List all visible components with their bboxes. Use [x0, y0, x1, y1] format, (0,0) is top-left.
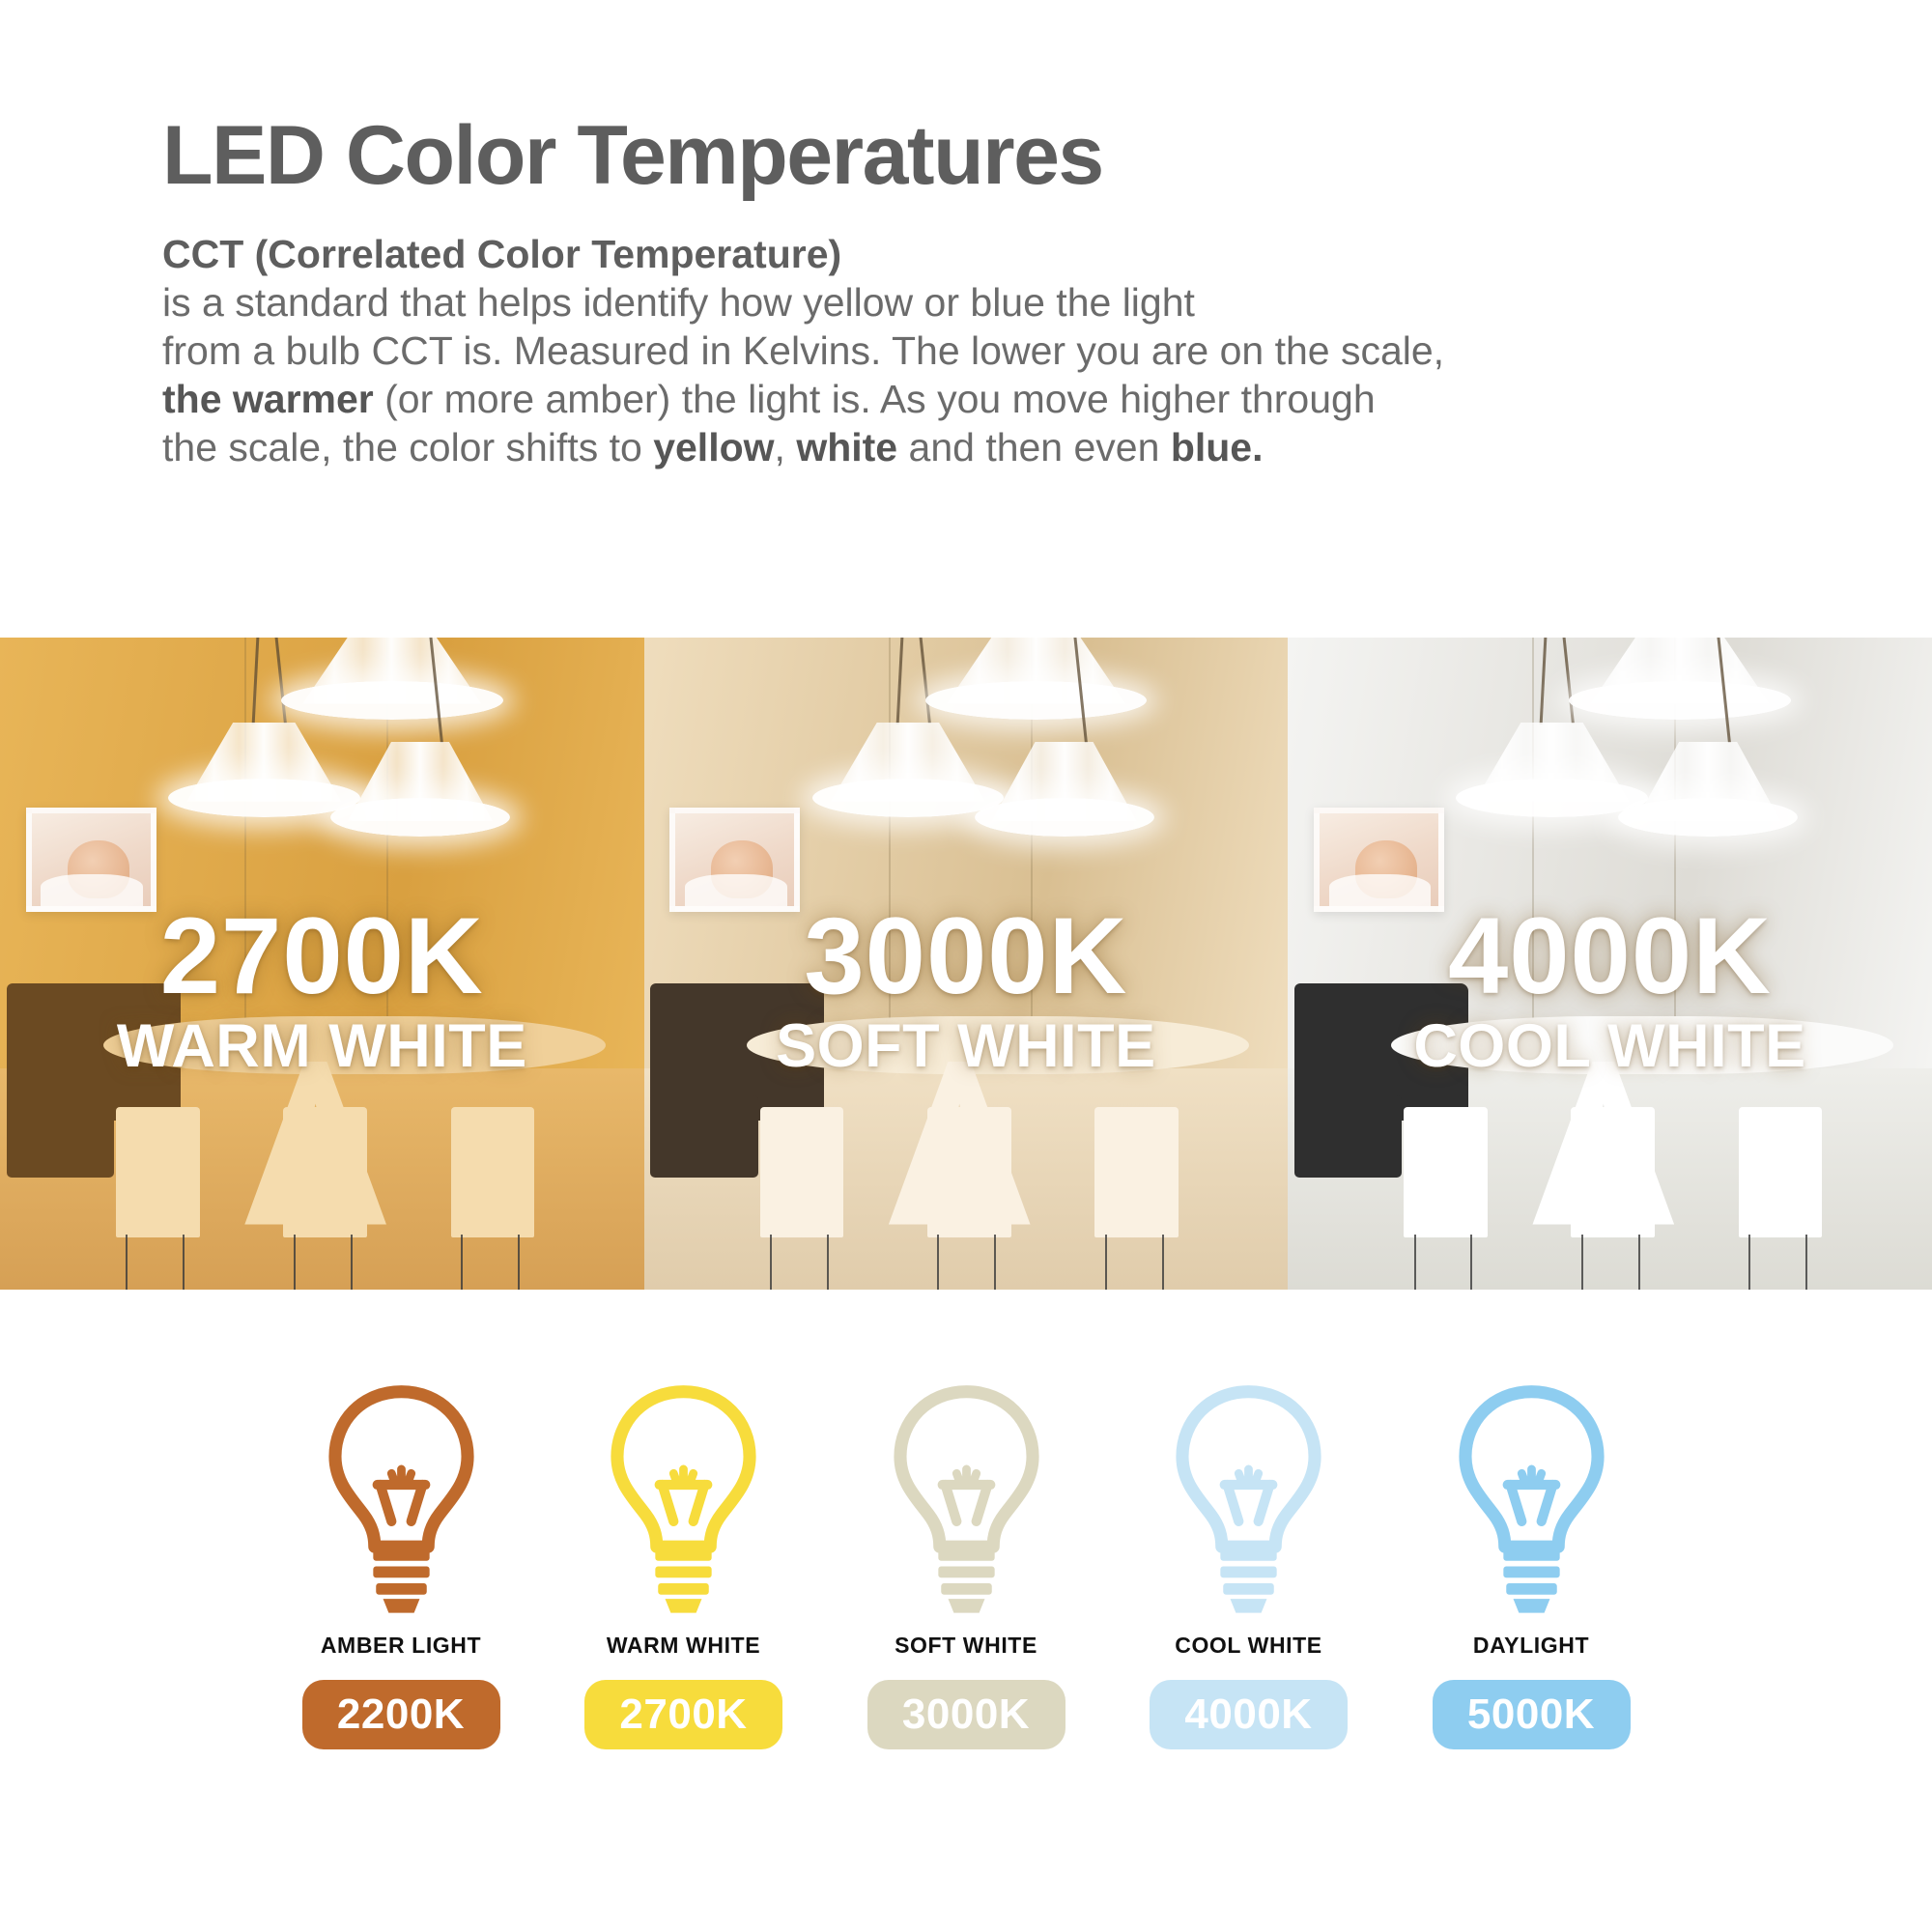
room-comparison-band: 2700K WARM WHITE	[0, 638, 1932, 1290]
bulb-label: DAYLIGHT	[1473, 1633, 1589, 1659]
lamp-glow	[975, 798, 1154, 837]
bulb-item-2700k[interactable]: WARM WHITE 2700K	[563, 1379, 805, 1749]
description-line-4-d: and then even	[897, 425, 1171, 469]
chair-leg	[183, 1235, 185, 1290]
bulb-item-4000k[interactable]: COOL WHITE 4000K	[1128, 1379, 1370, 1749]
chair	[1404, 1107, 1488, 1237]
pendant-lamp	[947, 638, 1125, 704]
chair-leg	[1581, 1235, 1583, 1290]
pendant-lamp	[186, 723, 341, 802]
lamp-glow	[812, 779, 1004, 817]
framed-artwork	[26, 808, 156, 912]
chair-leg	[1470, 1235, 1472, 1290]
dining-table-top	[103, 1016, 606, 1075]
room-panel-2700k: 2700K WARM WHITE	[0, 638, 644, 1290]
room-panel-4000k: 4000K COOL WHITE	[1288, 638, 1932, 1290]
description-line-4-a: the scale, the color shifts to	[162, 425, 653, 469]
chair-leg	[1748, 1235, 1750, 1290]
chair	[1571, 1107, 1655, 1237]
infographic-page: LED Color Temperatures CCT (Correlated C…	[0, 0, 1932, 1932]
description-line-3-rest: (or more amber) the light is. As you mov…	[374, 377, 1376, 421]
description-line-4: the scale, the color shifts to yellow, w…	[162, 423, 1804, 471]
chair	[760, 1107, 844, 1237]
chair	[116, 1107, 200, 1237]
pendant-lamp	[1590, 638, 1769, 704]
chair-leg	[770, 1235, 772, 1290]
chair-leg	[937, 1235, 939, 1290]
bulb-label: COOL WHITE	[1175, 1633, 1322, 1659]
white-emphasis: white	[796, 425, 897, 469]
wall-seam	[889, 638, 891, 1068]
pendant-lamp	[348, 742, 493, 821]
chair-leg	[1162, 1235, 1164, 1290]
framed-artwork	[1314, 808, 1444, 912]
chair-leg	[126, 1235, 128, 1290]
bulb-label: SOFT WHITE	[895, 1633, 1037, 1659]
lamp-glow	[330, 798, 510, 837]
kelvin-badge[interactable]: 2200K	[302, 1680, 500, 1749]
chair-leg	[994, 1235, 996, 1290]
sofa-arm	[650, 1095, 758, 1178]
bulb-scale-row: AMBER LIGHT 2200K WARM WHITE 2700K	[280, 1379, 1652, 1749]
lamp-glow	[1569, 681, 1790, 720]
kelvin-badge[interactable]: 5000K	[1433, 1680, 1631, 1749]
page-title: LED Color Temperatures	[162, 114, 1804, 197]
pendant-lamp	[302, 638, 481, 704]
lamp-glow	[1618, 798, 1798, 837]
description-line-4-c: ,	[775, 425, 797, 469]
chair	[451, 1107, 535, 1237]
artwork-blanket	[41, 874, 143, 906]
lightbulb-icon	[1164, 1379, 1333, 1621]
lightbulb-icon	[1447, 1379, 1616, 1621]
pendant-lamp	[992, 742, 1137, 821]
lamp-glow	[168, 779, 359, 817]
kelvin-badge[interactable]: 4000K	[1150, 1680, 1348, 1749]
lightbulb-icon	[317, 1379, 486, 1621]
pendant-lamp	[1474, 723, 1629, 802]
chair-leg	[351, 1235, 353, 1290]
yellow-emphasis: yellow	[653, 425, 774, 469]
pendant-lamp	[831, 723, 985, 802]
chair	[1739, 1107, 1823, 1237]
lightbulb-icon	[882, 1379, 1051, 1621]
artwork-blanket	[1329, 874, 1432, 906]
chair-leg	[827, 1235, 829, 1290]
description-line-3: the warmer (or more amber) the light is.…	[162, 375, 1804, 423]
description-block: CCT (Correlated Color Temperature) is a …	[162, 230, 1804, 471]
chair-leg	[1638, 1235, 1640, 1290]
room-panel-3000k: 3000K SOFT WHITE	[644, 638, 1289, 1290]
blue-emphasis: blue.	[1171, 425, 1264, 469]
chair-leg	[518, 1235, 520, 1290]
bulb-item-5000k[interactable]: DAYLIGHT 5000K	[1410, 1379, 1652, 1749]
kelvin-badge[interactable]: 2700K	[584, 1680, 782, 1749]
framed-artwork	[669, 808, 800, 912]
dining-table-top	[1391, 1016, 1893, 1075]
chair-leg	[1105, 1235, 1107, 1290]
bulb-item-3000k[interactable]: SOFT WHITE 3000K	[845, 1379, 1087, 1749]
description-line-2: from a bulb CCT is. Measured in Kelvins.…	[162, 327, 1804, 375]
dining-table-top	[747, 1016, 1249, 1075]
lamp-glow	[281, 681, 502, 720]
bulb-item-2200k[interactable]: AMBER LIGHT 2200K	[280, 1379, 522, 1749]
lightbulb-icon	[599, 1379, 768, 1621]
lamp-glow	[925, 681, 1147, 720]
bulb-label: WARM WHITE	[607, 1633, 760, 1659]
chair	[1094, 1107, 1179, 1237]
header: LED Color Temperatures CCT (Correlated C…	[162, 114, 1804, 471]
pendant-lamp	[1635, 742, 1780, 821]
sofa-arm	[7, 1095, 115, 1178]
chair-leg	[1414, 1235, 1416, 1290]
lamp-glow	[1456, 779, 1647, 817]
kelvin-badge[interactable]: 3000K	[867, 1680, 1065, 1749]
bulb-label: AMBER LIGHT	[321, 1633, 481, 1659]
chair-leg	[461, 1235, 463, 1290]
wall-seam	[1532, 638, 1534, 1068]
chair-leg	[294, 1235, 296, 1290]
wall-seam	[244, 638, 246, 1068]
chair-leg	[1805, 1235, 1807, 1290]
sofa-arm	[1294, 1095, 1403, 1178]
description-line-1: is a standard that helps identify how ye…	[162, 278, 1804, 327]
artwork-blanket	[685, 874, 787, 906]
warmer-emphasis: the warmer	[162, 377, 374, 421]
chair	[283, 1107, 367, 1237]
cct-definition-heading: CCT (Correlated Color Temperature)	[162, 230, 1804, 278]
chair	[927, 1107, 1011, 1237]
